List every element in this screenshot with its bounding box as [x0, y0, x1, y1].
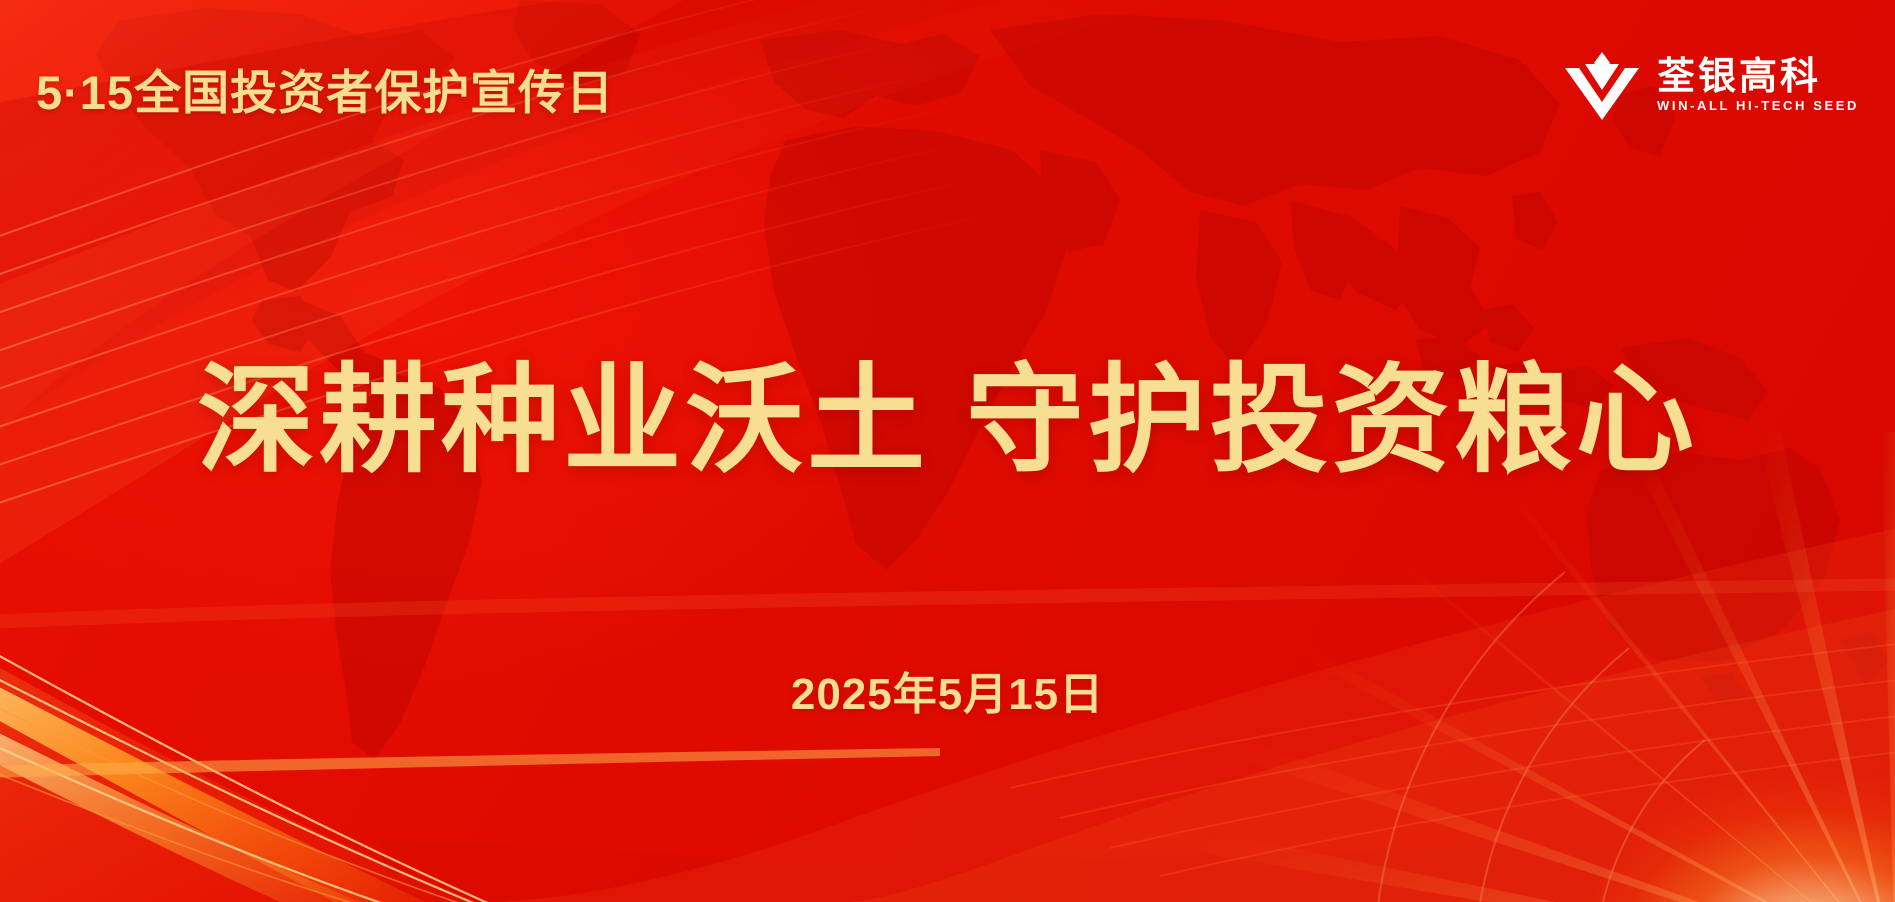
brand-name-en: WIN-ALL HI-TECH SEED: [1657, 99, 1859, 112]
poster-canvas: 5·15全国投资者保护宣传日 荃银高科 WIN-ALL HI-TECH SEED…: [0, 0, 1895, 902]
brand-wordmark: 荃银高科 WIN-ALL HI-TECH SEED: [1657, 58, 1859, 112]
winall-chevron-seed-mark-icon: [1563, 50, 1641, 120]
poster-main-title: 深耕种业沃土 守护投资粮心: [0, 352, 1895, 491]
golden-light-streaks: [0, 582, 940, 902]
campaign-kicker-title: 5·15全国投资者保护宣传日: [36, 54, 614, 123]
poster-event-date: 2025年5月15日: [0, 658, 1895, 722]
brand-logo: 荃银高科 WIN-ALL HI-TECH SEED: [1563, 50, 1859, 120]
brand-name-cn: 荃银高科: [1657, 58, 1859, 96]
